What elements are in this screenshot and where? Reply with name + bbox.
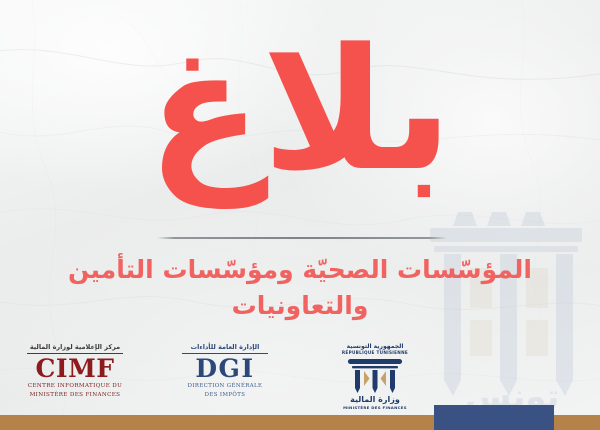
dgi-sub-line-1: DIRECTION GÉNÉRALE [163,382,287,390]
subtitle-line-2: والتعاونيات [18,288,582,324]
logo-cimf: مركز الإعلامية لوزارة المالية CIMF CENTR… [13,344,137,400]
page-title: بلاغ [0,8,600,213]
announcement-poster: تونس بلاغ المؤسّسات الصحيّة ومؤسّسات الت… [0,0,600,430]
subtitle: المؤسّسات الصحيّة ومؤسّسات التأمين والتع… [18,252,582,323]
cimf-sub-line-2: MINISTÈRE DES FINANCES [13,391,137,399]
ministry-arabic-name: وزارة المالية [313,396,437,405]
dgi-sub-line-2: DES IMPÔTS [163,391,287,399]
ministry-latin-republic: RÉPUBLIQUE TUNISIENNE [313,350,437,356]
logo-dgi: الإدارة العامة للأداءات DGI DIRECTION GÉ… [163,344,287,400]
divider [157,237,447,239]
ministry-latin-name: MINISTÈRE DES FINANCES [313,405,437,410]
subtitle-line-1: المؤسّسات الصحيّة ومؤسّسات التأمين [68,255,532,284]
dgi-wordmark: DGI [163,356,287,382]
logo-ministry-of-finance: الجمهورية التونسية RÉPUBLIQUE TUNISIENNE [313,344,437,410]
cimf-wordmark: CIMF [13,356,137,382]
logo-strip: مركز الإعلامية لوزارة المالية CIMF CENTR… [0,344,450,416]
cimf-sub-line-1: CENTRE INFORMATIQUE DU [13,382,137,390]
ministry-columns-icon [346,357,404,395]
navy-footer-block [434,405,554,430]
cimf-arabic-label: مركز الإعلامية لوزارة المالية [13,344,137,351]
dgi-arabic-label: الإدارة العامة للأداءات [163,344,287,351]
